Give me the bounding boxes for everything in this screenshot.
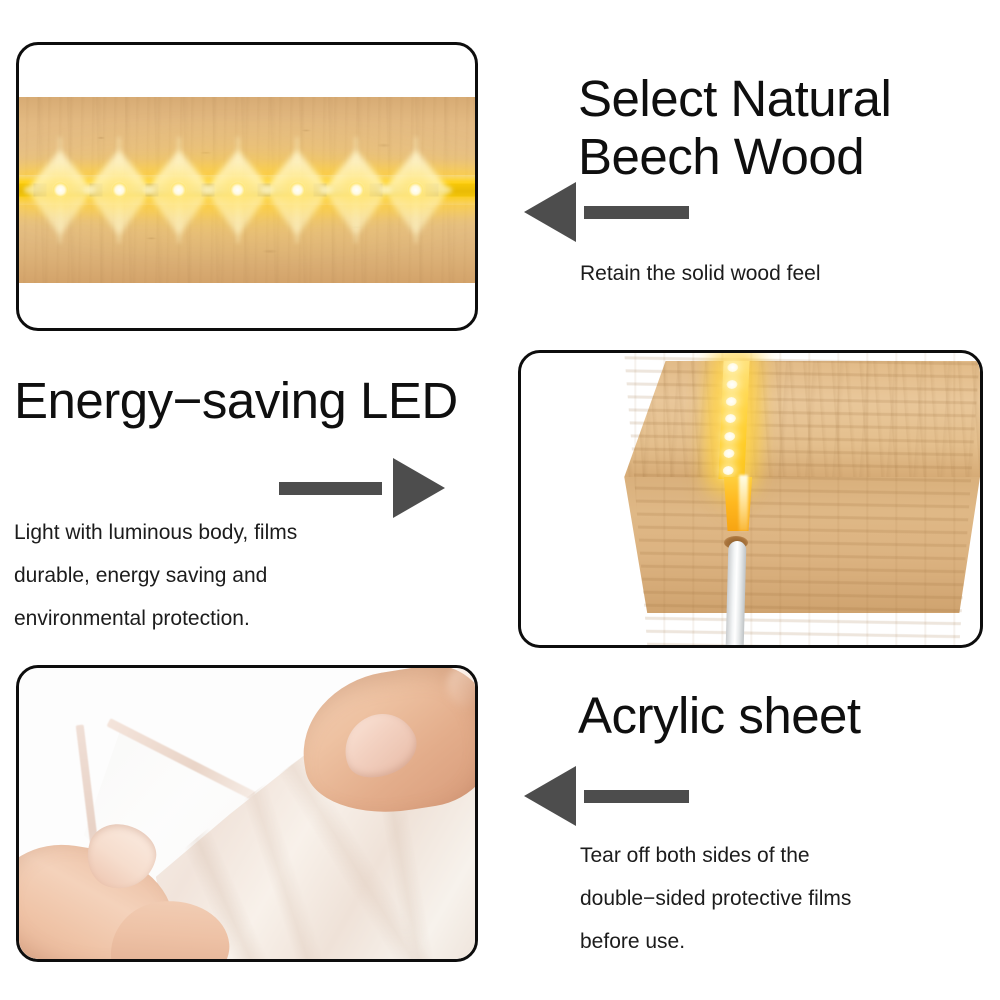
- led-point-light: [52, 182, 69, 199]
- feature-caption-energy-saving-led: Light with luminous body, films durable,…: [14, 511, 484, 640]
- photo-panel-beech-board: [16, 42, 478, 331]
- groove-led-dot: [726, 397, 737, 406]
- feature-caption-wrap-beech-wood: Retain the solid wood feel: [580, 252, 980, 295]
- arrow-head-right-icon: [393, 458, 445, 518]
- groove-edge-highlight: [739, 475, 748, 531]
- groove-led-dot: [727, 363, 738, 372]
- infographic-canvas: Select Natural Beech Wood Retain the sol…: [0, 0, 1000, 1000]
- pointer-arrow-energy-saving-led: [279, 458, 445, 518]
- led-point-light: [407, 182, 424, 199]
- led-point-light: [170, 182, 187, 199]
- feature-caption-wrap-energy-saving-led: Light with luminous body, films durable,…: [14, 511, 484, 640]
- arrow-shaft: [584, 206, 689, 219]
- wood-block-scene: [521, 353, 980, 645]
- groove-led-dot: [723, 449, 734, 458]
- led-point-light: [348, 182, 365, 199]
- wood-board-surface: [19, 97, 475, 283]
- groove-led-dot: [724, 432, 735, 441]
- led-point-light: [111, 182, 128, 199]
- led-point-light: [289, 182, 306, 199]
- pointer-arrow-beech-wood: [524, 182, 689, 242]
- groove-led-dot: [725, 414, 736, 423]
- feature-block-energy-saving-led: Energy−saving LED: [14, 372, 494, 430]
- feature-heading-beech-wood: Select Natural Beech Wood: [578, 70, 978, 186]
- arrow-shaft: [584, 790, 689, 803]
- groove-led-dot: [723, 466, 734, 475]
- feature-heading-acrylic-sheet: Acrylic sheet: [578, 687, 978, 745]
- photo-peeling-protective-film: [19, 668, 475, 959]
- feature-caption-beech-wood: Retain the solid wood feel: [580, 252, 980, 295]
- feature-caption-wrap-acrylic-sheet: Tear off both sides of the double−sided …: [580, 834, 980, 963]
- photo-beech-board: [19, 45, 475, 328]
- photo-panel-wood-block: [518, 350, 983, 648]
- photo-wood-block-groove: [521, 353, 980, 645]
- knuckle-highlight: [444, 668, 475, 710]
- feature-caption-acrylic-sheet: Tear off both sides of the double−sided …: [580, 834, 980, 963]
- photo-panel-acrylic-film: [16, 665, 478, 962]
- groove-led-dot: [726, 380, 737, 389]
- arrow-head-left-icon: [524, 766, 576, 826]
- acrylic-peel-scene: [19, 668, 475, 959]
- feature-block-beech-wood: Select Natural Beech Wood: [578, 70, 978, 186]
- power-cable: [726, 541, 747, 645]
- feature-heading-energy-saving-led: Energy−saving LED: [14, 372, 494, 430]
- feature-block-acrylic-sheet: Acrylic sheet: [578, 687, 978, 745]
- arrow-shaft: [279, 482, 382, 495]
- pointer-arrow-acrylic-sheet: [524, 766, 689, 826]
- arrow-head-left-icon: [524, 182, 576, 242]
- led-point-light: [229, 182, 246, 199]
